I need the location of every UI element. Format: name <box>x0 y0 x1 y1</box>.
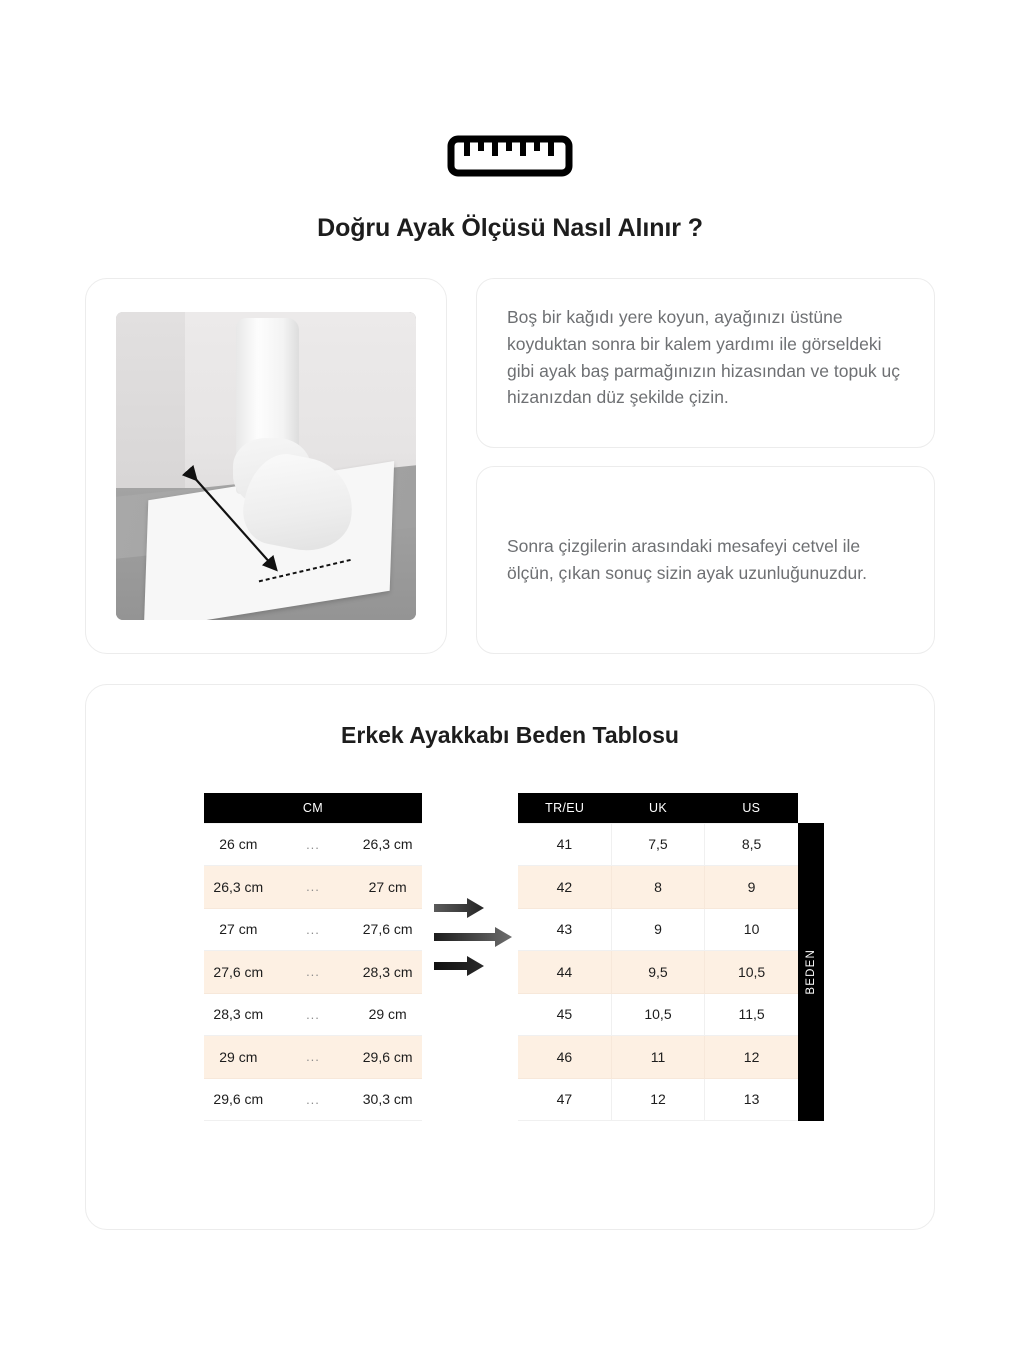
size-table: TR/EU UK US 41 7,5 8,5 42 8 <box>518 793 798 1121</box>
size-eu: 43 <box>518 908 611 951</box>
size-header-eu: TR/EU <box>518 793 611 823</box>
cm-from: 27,6 cm <box>204 951 277 994</box>
instruction-cards: Boş bir kağıdı yere koyun, ayağınızı üst… <box>476 278 935 654</box>
cm-separator: ... <box>277 1078 350 1121</box>
size-eu: 42 <box>518 866 611 909</box>
size-eu: 47 <box>518 1078 611 1121</box>
table-row: 29,6 cm ... 30,3 cm <box>204 1078 422 1121</box>
cm-separator: ... <box>277 993 350 1036</box>
table-row: 27,6 cm ... 28,3 cm <box>204 951 422 994</box>
table-row: 29 cm ... 29,6 cm <box>204 1036 422 1079</box>
size-eu: 46 <box>518 1036 611 1079</box>
size-uk: 9 <box>611 908 704 951</box>
table-row: 28,3 cm ... 29 cm <box>204 993 422 1036</box>
cm-separator: ... <box>277 1036 350 1079</box>
table-row: 26,3 cm ... 27 cm <box>204 866 422 909</box>
page-title: Doğru Ayak Ölçüsü Nasıl Alınır ? <box>0 214 1020 243</box>
table-row: 27 cm ... 27,6 cm <box>204 908 422 951</box>
size-eu: 45 <box>518 993 611 1036</box>
size-uk: 7,5 <box>611 823 704 866</box>
cm-to: 27 cm <box>349 866 422 909</box>
size-uk: 11 <box>611 1036 704 1079</box>
table-row: 44 9,5 10,5 <box>518 951 798 994</box>
table-row: 43 9 10 <box>518 908 798 951</box>
tables-row: CM 26 cm ... 26,3 cm 26,3 cm ... 27 cm <box>86 793 936 1121</box>
foot-measurement-photo <box>116 312 416 620</box>
size-us: 13 <box>705 1078 798 1121</box>
table-row: 45 10,5 11,5 <box>518 993 798 1036</box>
cm-table-header-row: CM <box>204 793 422 823</box>
instructions-section: Boş bir kağıdı yere koyun, ayağınızı üst… <box>0 278 1020 654</box>
cm-separator: ... <box>277 823 350 866</box>
cm-separator: ... <box>277 866 350 909</box>
size-header-uk: UK <box>611 793 704 823</box>
instruction-card-1: Boş bir kağıdı yere koyun, ayağınızı üst… <box>476 278 935 448</box>
cm-from: 27 cm <box>204 908 277 951</box>
photo-card <box>85 278 447 654</box>
cm-to: 28,3 cm <box>349 951 422 994</box>
size-uk: 9,5 <box>611 951 704 994</box>
cm-from: 26 cm <box>204 823 277 866</box>
table-row: 47 12 13 <box>518 1078 798 1121</box>
size-guide-page: Doğru Ayak Ölçüsü Nasıl Alınır ? <box>0 0 1020 1360</box>
cm-from: 28,3 cm <box>204 993 277 1036</box>
size-uk: 12 <box>611 1078 704 1121</box>
size-eu: 44 <box>518 951 611 994</box>
measurement-dashed-line <box>257 552 356 589</box>
size-us: 12 <box>705 1036 798 1079</box>
size-table-title: Erkek Ayakkabı Beden Tablosu <box>86 722 934 749</box>
ruler-icon <box>0 128 1020 184</box>
conversion-arrows <box>422 793 518 976</box>
beden-side-label: BEDEN <box>798 823 824 1121</box>
cm-from: 29 cm <box>204 1036 277 1079</box>
cm-from: 26,3 cm <box>204 866 277 909</box>
cm-from: 29,6 cm <box>204 1078 277 1121</box>
table-row: 26 cm ... 26,3 cm <box>204 823 422 866</box>
beden-label-text: BEDEN <box>805 949 817 995</box>
size-us: 10,5 <box>705 951 798 994</box>
size-us: 9 <box>705 866 798 909</box>
cm-separator: ... <box>277 951 350 994</box>
page-header: Doğru Ayak Ölçüsü Nasıl Alınır ? <box>0 0 1020 243</box>
size-header-us: US <box>705 793 798 823</box>
size-table-wrap: TR/EU UK US 41 7,5 8,5 42 8 <box>518 793 824 1121</box>
cm-table-header: CM <box>204 793 422 823</box>
arrow-right-long-icon <box>434 927 512 947</box>
size-us: 8,5 <box>705 823 798 866</box>
instruction-card-2: Sonra çizgilerin arasındaki mesafeyi cet… <box>476 466 935 654</box>
size-table-card: Erkek Ayakkabı Beden Tablosu CM 26 cm ..… <box>85 684 935 1230</box>
size-us: 11,5 <box>705 993 798 1036</box>
cm-to: 29 cm <box>349 993 422 1036</box>
size-table-header-row: TR/EU UK US <box>518 793 798 823</box>
table-row: 42 8 9 <box>518 866 798 909</box>
cm-to: 26,3 cm <box>349 823 422 866</box>
size-us: 10 <box>705 908 798 951</box>
instruction-text-1: Boş bir kağıdı yere koyun, ayağınızı üst… <box>507 304 904 411</box>
arrow-right-medium-icon <box>434 956 484 976</box>
table-row: 41 7,5 8,5 <box>518 823 798 866</box>
table-row: 46 11 12 <box>518 1036 798 1079</box>
arrow-right-short-icon <box>434 898 484 918</box>
cm-to: 30,3 cm <box>349 1078 422 1121</box>
size-eu: 41 <box>518 823 611 866</box>
cm-to: 27,6 cm <box>349 908 422 951</box>
cm-separator: ... <box>277 908 350 951</box>
cm-to: 29,6 cm <box>349 1036 422 1079</box>
size-uk: 10,5 <box>611 993 704 1036</box>
cm-table: CM 26 cm ... 26,3 cm 26,3 cm ... 27 cm <box>204 793 422 1121</box>
instruction-text-2: Sonra çizgilerin arasındaki mesafeyi cet… <box>507 533 904 587</box>
size-uk: 8 <box>611 866 704 909</box>
